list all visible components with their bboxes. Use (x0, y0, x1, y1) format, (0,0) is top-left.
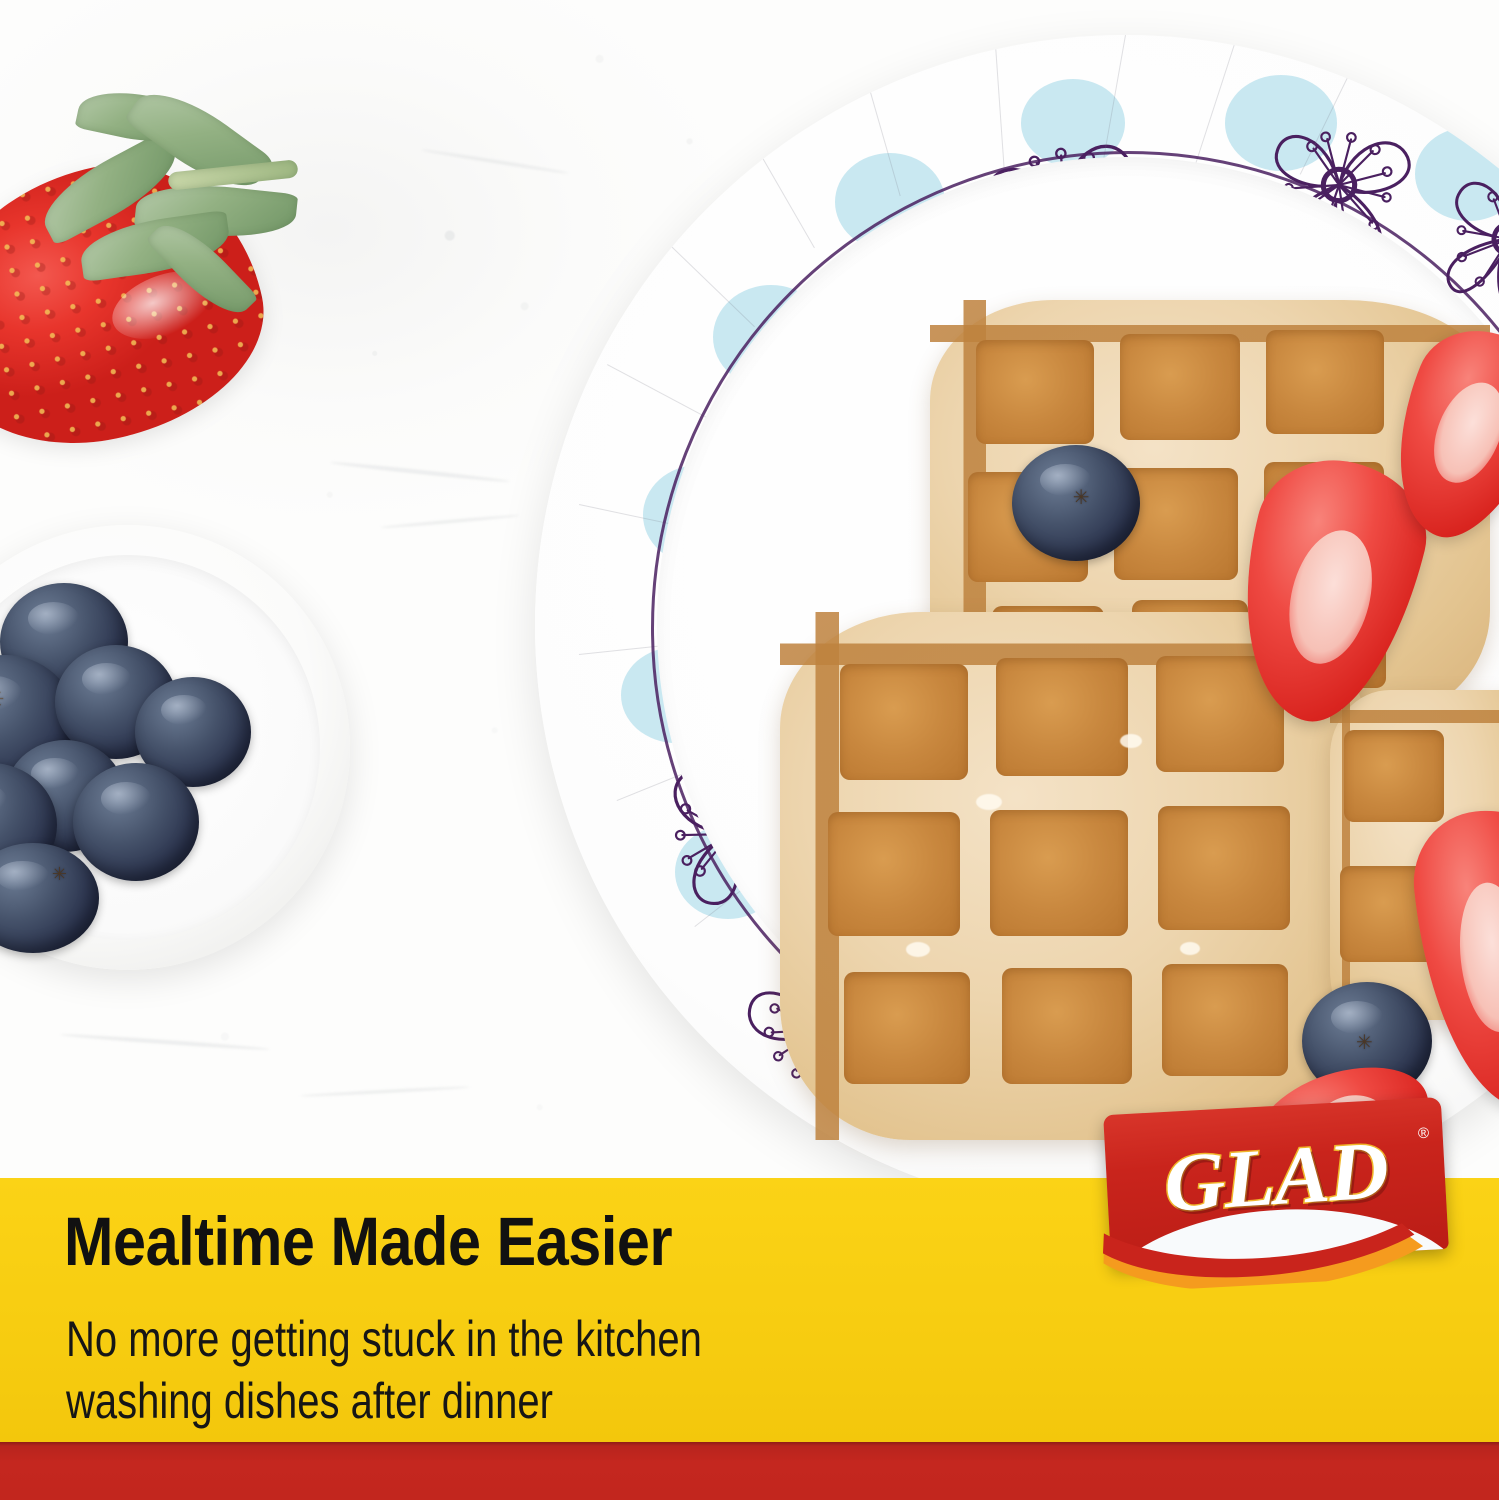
page-title: Mealtime Made Easier (64, 1207, 672, 1276)
blueberry-on-plate: ✳ (1012, 445, 1140, 561)
waffle-pocket (996, 658, 1128, 776)
logo-wordmark: GLAD (1116, 1126, 1437, 1228)
glad-logo: GLAD ® (1107, 1106, 1445, 1282)
footer-red-strip (0, 1442, 1499, 1500)
product-lifestyle-photo: ✳ ✳ (0, 0, 1499, 1178)
registered-trademark-icon: ® (1418, 1126, 1430, 1142)
blueberry (73, 763, 199, 881)
strawberry-slice-core (1453, 879, 1499, 1035)
advertisement-banner: ✳ ✳ (0, 0, 1499, 1500)
waffle-sugar-crumb (1120, 734, 1142, 748)
waffle-sugar-crumb (976, 794, 1002, 810)
waffle-pocket (1120, 334, 1240, 440)
subheadline-text: No more getting stuck in the kitchen was… (66, 1308, 702, 1432)
blueberry-calyx: ✳ (0, 686, 5, 712)
waffle-pocket (840, 664, 968, 780)
blueberry-calyx: ✳ (1356, 1033, 1373, 1053)
waffle-pocket (828, 812, 960, 936)
strawberry-slice-core (1421, 373, 1499, 493)
waffle-pocket (1162, 964, 1288, 1076)
waffle-pocket (1344, 730, 1444, 822)
waffle-pocket (1158, 806, 1290, 930)
waffle-pocket (976, 340, 1094, 444)
waffle-pocket (1266, 330, 1384, 434)
blueberry-calyx: ✳ (1073, 488, 1090, 508)
blueberry-calyx: ✳ (52, 865, 67, 883)
plate-fold-line (751, 139, 815, 249)
waffle-pocket (1002, 968, 1132, 1084)
strawberry-slice-core (1276, 522, 1385, 673)
waffle-sugar-crumb (906, 942, 930, 957)
waffle-pocket (990, 810, 1128, 936)
waffle-sugar-crumb (1180, 942, 1200, 955)
waffle-pocket (844, 972, 970, 1084)
strawberry-whole (0, 70, 360, 450)
